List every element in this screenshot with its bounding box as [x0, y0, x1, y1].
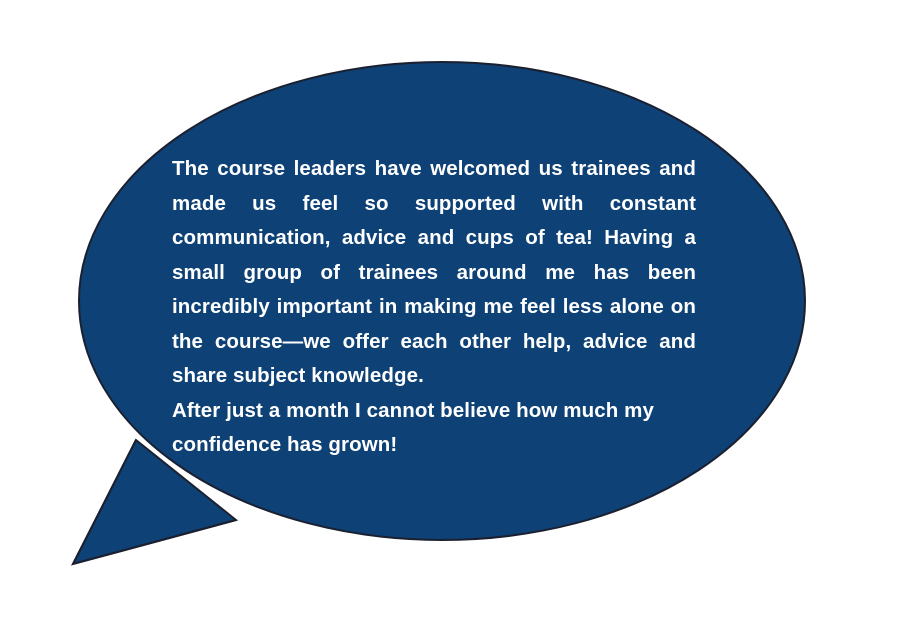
slide-canvas: The course leaders have welcomed us trai… [0, 0, 900, 636]
quote-paragraph-2: After just a month I cannot believe how … [172, 394, 696, 463]
quote-paragraph-1: The course leaders have welcomed us trai… [172, 152, 696, 394]
testimonial-quote-text: The course leaders have welcomed us trai… [172, 152, 696, 463]
